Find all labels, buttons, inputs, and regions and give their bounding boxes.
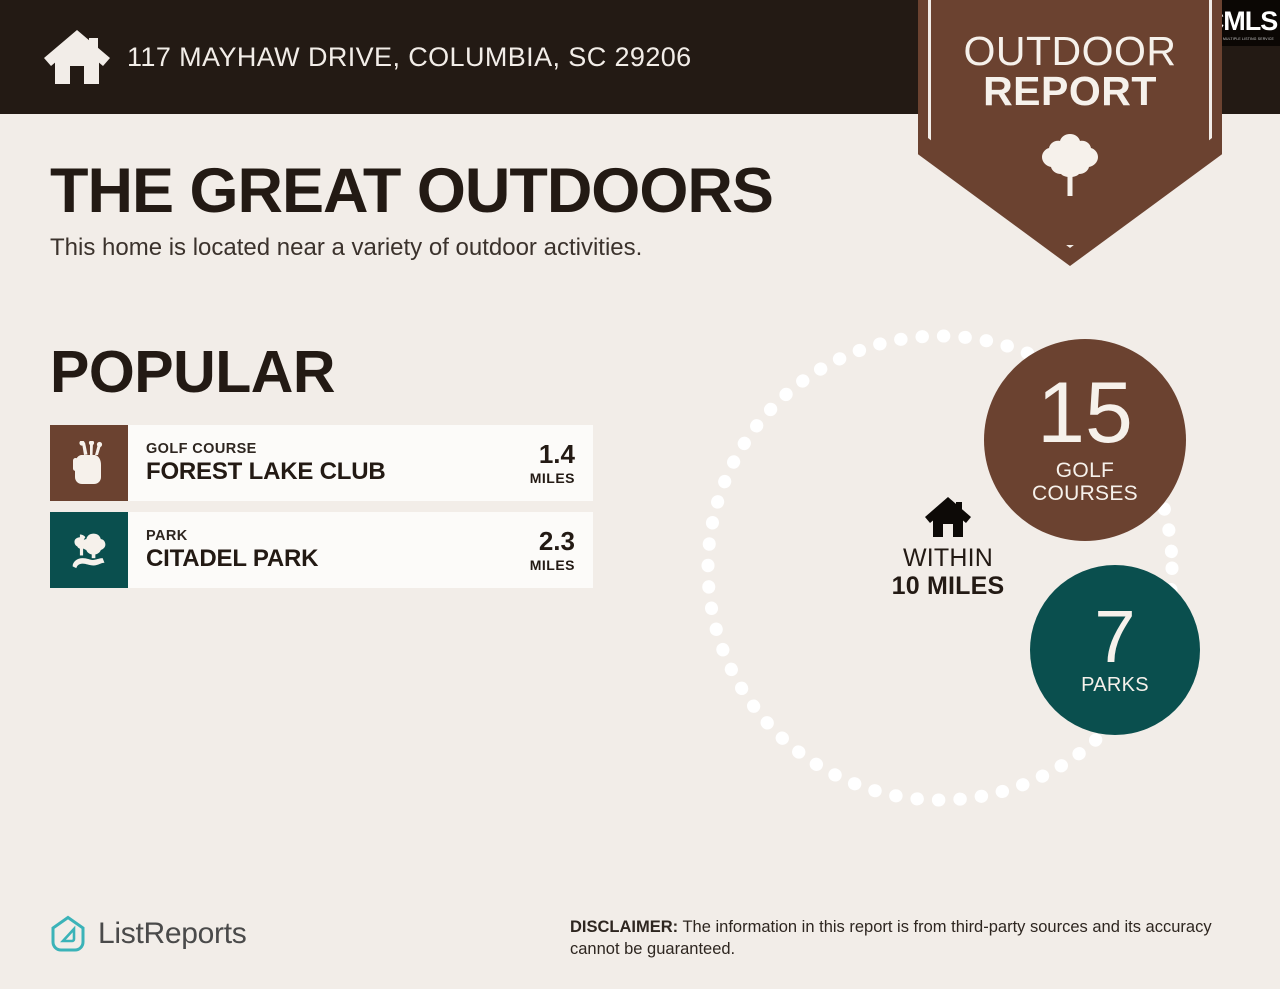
radius-infographic: WITHIN 10 MILES 15 GOLF COURSES 7 PARKS [690, 318, 1210, 813]
home-icon [42, 28, 112, 86]
list-item-body: PARK CITADEL PARK 2.3 MILES [128, 512, 593, 588]
stat-value: 7 [1094, 604, 1135, 671]
radius-center-line1: WITHIN [878, 544, 1018, 572]
radius-center-label: WITHIN 10 MILES [878, 496, 1018, 600]
list-item-distance-unit: MILES [530, 470, 575, 486]
list-item-distance: 1.4 MILES [530, 441, 579, 486]
list-item-text: PARK CITADEL PARK [146, 527, 530, 574]
popular-section-title: POPULAR [50, 338, 335, 406]
golf-bag-icon [69, 441, 109, 485]
disclaimer: DISCLAIMER: The information in this repo… [570, 916, 1230, 961]
list-item-category: GOLF COURSE [146, 440, 530, 458]
badge-title-line2: REPORT [918, 72, 1222, 112]
list-item-body: GOLF COURSE FOREST LAKE CLUB 1.4 MILES [128, 425, 593, 501]
listreports-brand-text: ListReports [98, 917, 246, 951]
radius-center-line2: 10 MILES [878, 572, 1018, 600]
list-item-name: CITADEL PARK [146, 545, 530, 574]
disclaimer-label: DISCLAIMER: [570, 918, 678, 936]
stat-value: 15 [1037, 375, 1133, 452]
list-item-name: FOREST LAKE CLUB [146, 458, 530, 487]
list-item-text: GOLF COURSE FOREST LAKE CLUB [146, 440, 530, 487]
list-item-distance: 2.3 MILES [530, 528, 579, 573]
list-item-distance-unit: MILES [530, 557, 575, 573]
popular-list: GOLF COURSE FOREST LAKE CLUB 1.4 MILES P… [50, 425, 593, 599]
outdoor-report-badge: OUTDOOR REPORT [918, 0, 1222, 266]
list-item[interactable]: PARK CITADEL PARK 2.3 MILES [50, 512, 593, 588]
stat-label-line1: GOLF [1032, 459, 1138, 482]
stat-bubble-parks: 7 PARKS [1030, 565, 1200, 735]
golf-course-tile [50, 425, 128, 501]
listreports-house-icon [50, 915, 86, 953]
home-icon [924, 496, 972, 538]
stat-bubble-golf-courses: 15 GOLF COURSES [984, 339, 1186, 541]
stat-label: PARKS [1081, 674, 1149, 696]
property-address: 117 MAYHAW DRIVE, COLUMBIA, SC 29206 [127, 42, 692, 73]
page-subtitle: This home is located near a variety of o… [50, 234, 642, 262]
park-tile [50, 512, 128, 588]
list-item-distance-value: 1.4 [530, 441, 575, 467]
stat-label: GOLF COURSES [1032, 459, 1138, 505]
stat-label-line2: COURSES [1032, 482, 1138, 505]
list-item-category: PARK [146, 527, 530, 545]
tree-icon [1039, 132, 1101, 198]
park-trees-icon [69, 528, 109, 572]
list-item[interactable]: GOLF COURSE FOREST LAKE CLUB 1.4 MILES [50, 425, 593, 501]
badge-title: OUTDOOR REPORT [918, 32, 1222, 112]
list-item-distance-value: 2.3 [530, 528, 575, 554]
listreports-logo[interactable]: ListReports [50, 915, 246, 953]
page-title: THE GREAT OUTDOORS [50, 155, 773, 227]
